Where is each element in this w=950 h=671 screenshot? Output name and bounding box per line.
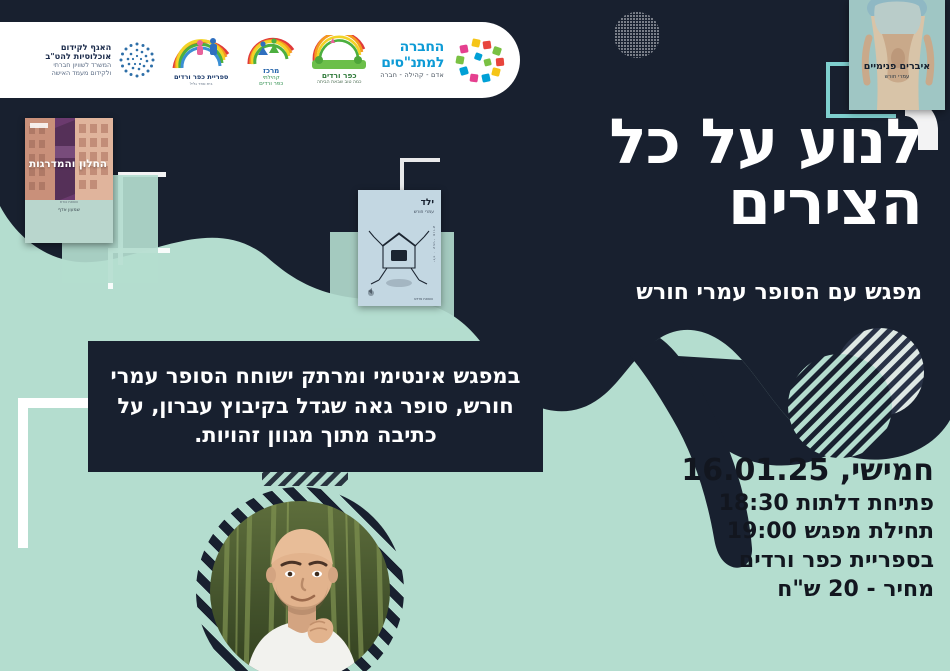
rainbow-readers-icon	[170, 34, 232, 72]
logo-library-caption2: בית ספר גליל	[190, 81, 213, 86]
event-price: מחיר - 20 ש"ח	[604, 576, 934, 605]
book-cover-window: החלון והמדרגות הוצאת כנרת שמעון אדף	[25, 118, 113, 243]
portrait-photo	[210, 501, 390, 671]
logo-matnasim-line1: החברה	[380, 40, 444, 56]
logo-cc-line3: כפר ורדים	[259, 81, 283, 87]
rainbow-village-icon	[310, 35, 368, 71]
colored-dots-icon	[450, 37, 506, 83]
poster-subtitle: מפגש עם הסופר עמרי חורש	[462, 280, 922, 305]
book-organs-author: עמרי חורש	[849, 74, 945, 80]
logo-ministry-line3: המשרד לשוויון חברתי	[45, 62, 111, 69]
headline-line-2: הצירים	[462, 173, 922, 234]
author-portrait	[196, 487, 404, 671]
headline-line-1: לנוע על כל	[462, 112, 922, 173]
book-cover-child: ילד עמרי חורש ילד · עמרי חורש הוצאת פרדס	[358, 190, 441, 306]
book-window-title: החלון והמדרגות	[29, 158, 107, 171]
event-date: חמישי, 16.01.25	[604, 452, 934, 490]
rainbow-people-icon	[246, 33, 296, 67]
dotted-circle-decoration	[614, 12, 660, 58]
logo-ministry-line4: ולקידום מעמד האישה	[45, 70, 111, 77]
event-doors-time: פתיחת דלתות 18:30	[604, 490, 934, 519]
striped-circle-large	[788, 354, 892, 458]
logo-kv-line1: כפר ורדים	[322, 71, 357, 80]
sponsor-logo-bar: האגף לקידום אוכלוסיות להט"ב המשרד לשוויו…	[0, 22, 520, 98]
logo-kfar-vradim: כפר ורדים כמה טוב שבאת הביתה	[308, 35, 370, 85]
book-organs-artwork	[849, 0, 945, 110]
book-child-spine: ילד · עמרי חורש	[432, 226, 436, 263]
poster-headline: לנוע על כל הצירים	[462, 112, 922, 234]
logo-ministry-line2: אוכלוסיות להט"ב	[45, 52, 111, 61]
striped-sliver	[262, 470, 348, 486]
logo-community-center: מרכז קהילתי כפר ורדים	[244, 33, 298, 87]
book-window-artwork	[25, 118, 113, 243]
event-start-time: תחילת מפגש 19:00	[604, 518, 934, 547]
logo-matnasim-line3: אדם - קהילה - חברה	[380, 72, 444, 79]
event-venue: בספריית כפר ורדים	[604, 547, 934, 576]
book-child-author: עמרי חורש	[414, 210, 434, 215]
event-details: חמישי, 16.01.25 פתיחת דלתות 18:30 תחילת …	[604, 452, 934, 604]
logo-cc-line1: מרכז	[263, 67, 279, 75]
book-child-footer: הוצאת פרדס	[414, 297, 433, 301]
book-organs-title: איברים פנימיים	[849, 61, 945, 72]
logo-kv-line2: כמה טוב שבאת הביתה	[317, 80, 362, 85]
logo-ministry: האגף לקידום אוכלוסיות להט"ב המשרד לשוויו…	[45, 39, 158, 81]
swirl-dots-icon	[116, 39, 158, 81]
book-window-author: שמעון אדף	[25, 208, 113, 213]
logo-matnasim-line2: למתנ"סים	[380, 56, 444, 72]
description-box: במפגש אינטימי ומרתק ישוחח הסופר עמרי חור…	[88, 341, 543, 472]
book-cover-organs: איברים פנימיים עמרי חורש	[849, 0, 945, 110]
description-text: במפגש אינטימי ומרתק ישוחח הסופר עמרי חור…	[88, 362, 543, 451]
logo-matnasim: החברה למתנ"סים אדם - קהילה - חברה	[380, 37, 506, 83]
book-window-publisher: הוצאת כנרת	[25, 200, 113, 204]
portrait-illustration	[210, 501, 390, 671]
logo-library-caption: ספריית כפר ורדים	[174, 73, 228, 81]
event-poster: האגף לקידום אוכלוסיות להט"ב המשרד לשוויו…	[0, 0, 950, 671]
book-child-title: ילד	[421, 198, 434, 208]
logo-library: ספריית כפר ורדים בית ספר גליל	[168, 34, 234, 86]
